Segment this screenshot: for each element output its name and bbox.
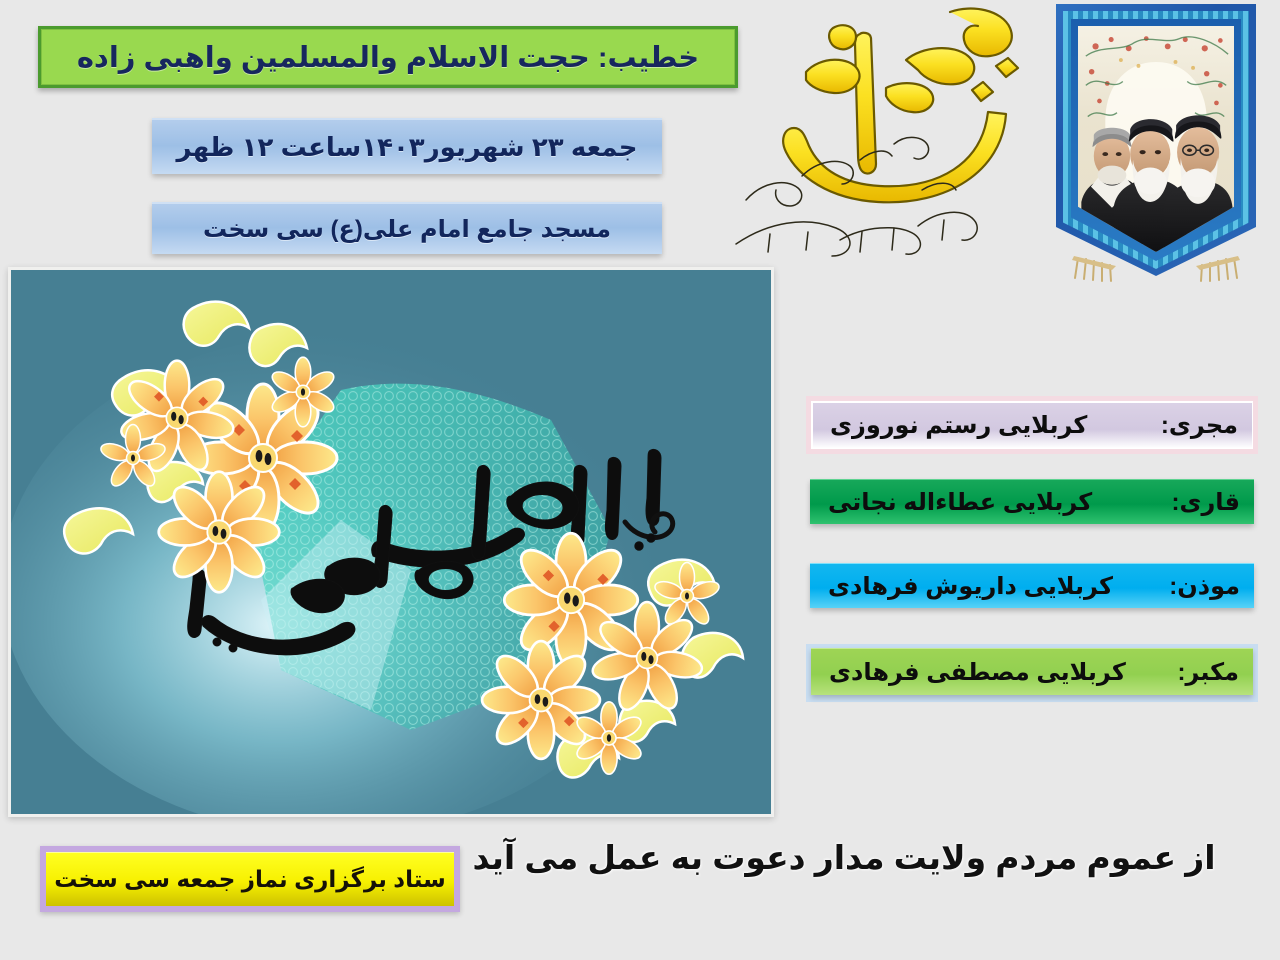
- role-label-mojri: مجری:: [1161, 411, 1238, 440]
- pennant-artwork-area: [1078, 26, 1234, 252]
- date-time-banner: جمعه ۲۳ شهریور۱۴۰۳ساعت ۱۲ ظهر: [152, 118, 662, 174]
- role-value-moazzen: کربلایی داریوش فرهادی: [828, 572, 1113, 601]
- role-row-mojri: مجری: کربلایی رستم نوروزی: [806, 396, 1258, 454]
- role-row-moazzen: موذن: کربلایی داریوش فرهادی: [806, 560, 1258, 614]
- khatib-banner: خطیب: حجت الاسلام والمسلمین واهبی زاده: [38, 26, 738, 88]
- role-value-mojri: کربلایی رستم نوروزی: [830, 411, 1087, 440]
- location-label: مسجد جامع امام علی(ع) سی سخت: [203, 215, 611, 244]
- role-label-ghari: قاری:: [1171, 488, 1240, 517]
- invitation-text: از عموم مردم ولایت مدار دعوت به عمل می آ…: [444, 838, 1244, 877]
- staff-badge-label: ستاد برگزاری نماز جمعه سی سخت: [54, 866, 446, 893]
- staff-badge-inner: ستاد برگزاری نماز جمعه سی سخت: [46, 852, 454, 906]
- pennant-tassels-icon: [1072, 256, 1240, 282]
- role-row-ghari: قاری: کربلایی عطاءاله نجاتی: [806, 476, 1258, 530]
- role-row-mokabber: مکبر: کربلایی مصطفی فرهادی: [806, 644, 1258, 702]
- role-bar-mokabber: مکبر: کربلایی مصطفی فرهادی: [811, 648, 1253, 695]
- namaz-jomeh-calligraphy-icon: [710, 0, 1040, 284]
- role-label-mokabber: مکبر:: [1177, 658, 1239, 687]
- poster-canvas: خطیب: حجت الاسلام والمسلمین واهبی زاده ج…: [0, 0, 1280, 960]
- portrait-pennant: [1056, 4, 1256, 276]
- date-time-label: جمعه ۲۳ شهریور۱۴۰۳ساعت ۱۲ ظهر: [177, 132, 638, 163]
- role-label-moazzen: موذن:: [1169, 572, 1240, 601]
- mahdi-calligraphy-image: [8, 267, 774, 817]
- khatib-label: خطیب: حجت الاسلام والمسلمین واهبی زاده: [77, 40, 699, 75]
- location-banner: مسجد جامع امام علی(ع) سی سخت: [152, 202, 662, 254]
- khatib-banner-inner: خطیب: حجت الاسلام والمسلمین واهبی زاده: [41, 29, 735, 85]
- staff-badge: ستاد برگزاری نماز جمعه سی سخت: [40, 846, 460, 912]
- roles-list: مجری: کربلایی رستم نوروزی قاری: کربلایی …: [806, 396, 1258, 712]
- role-bar-moazzen: موذن: کربلایی داریوش فرهادی: [810, 563, 1254, 608]
- role-value-mokabber: کربلایی مصطفی فرهادی: [829, 658, 1126, 687]
- role-value-ghari: کربلایی عطاءاله نجاتی: [828, 488, 1092, 517]
- role-bar-ghari: قاری: کربلایی عطاءاله نجاتی: [810, 479, 1254, 524]
- role-bar-mojri: مجری: کربلایی رستم نوروزی: [811, 401, 1253, 449]
